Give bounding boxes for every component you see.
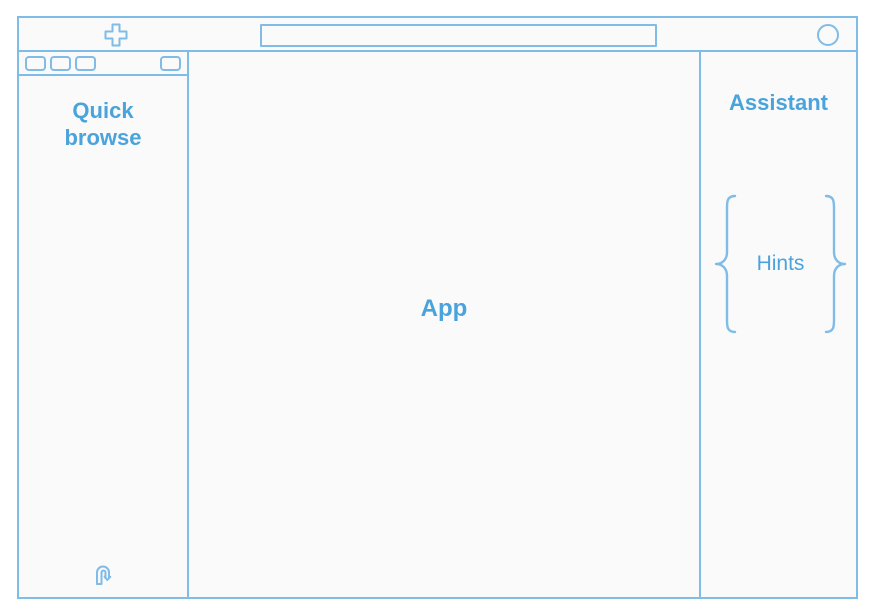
sidebar-content: Quick browse: [19, 76, 187, 597]
sidebar-tool-2[interactable]: [50, 56, 71, 71]
sidebar-tool-3[interactable]: [75, 56, 96, 71]
sidebar-toolbar: [19, 52, 187, 76]
search-input[interactable]: [260, 24, 657, 47]
window-body: Quick browse App Assistant: [19, 52, 856, 597]
app-content-area[interactable]: App: [189, 52, 701, 597]
sidebar-panel: Quick browse: [19, 52, 189, 597]
assistant-title: Assistant: [701, 90, 856, 116]
sidebar-tool-4[interactable]: [160, 56, 181, 71]
sidebar-title: Quick browse: [19, 98, 187, 152]
plus-icon[interactable]: [102, 21, 130, 49]
top-bar: [19, 18, 856, 52]
hints-group: Hints: [713, 194, 848, 334]
circle-avatar-icon[interactable]: [817, 24, 839, 46]
right-curly-brace-icon: [822, 194, 848, 334]
u-turn-arrow-icon[interactable]: [89, 559, 119, 589]
assistant-panel: Assistant Hints: [701, 52, 856, 597]
sidebar-tool-1[interactable]: [25, 56, 46, 71]
wireframe-window: Quick browse App Assistant: [17, 16, 858, 599]
app-label: App: [421, 295, 468, 323]
